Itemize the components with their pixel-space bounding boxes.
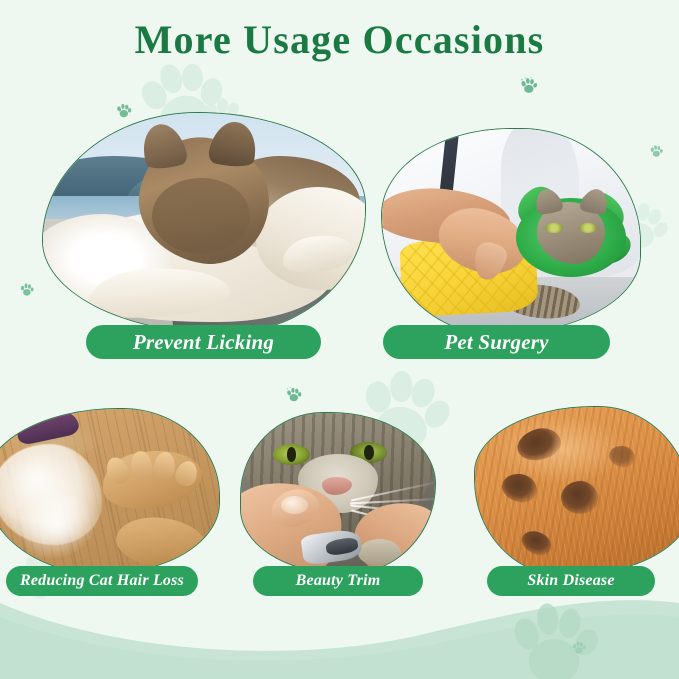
- label-beauty-trim-text: Beauty Trim: [296, 572, 381, 590]
- paw-accent-mid-left-icon: [18, 280, 36, 300]
- photo-reducing-cat-hair-loss: [0, 408, 220, 574]
- label-skin-disease[interactable]: Skin Disease: [487, 566, 655, 596]
- paw-watermark-bottom-right: [488, 596, 618, 679]
- paw-accent-bottom-right-icon: [570, 638, 588, 658]
- paw-accent-top-right-icon: [518, 74, 540, 98]
- label-prevent-licking-text: Prevent Licking: [133, 330, 274, 355]
- infographic-canvas: More Usage Occasions: [0, 0, 679, 679]
- photo-beauty-trim: [240, 412, 436, 574]
- page-title-wrapper: More Usage Occasions: [0, 14, 679, 66]
- photo-prevent-licking: [42, 112, 366, 334]
- occasion-card-skin-disease[interactable]: [474, 406, 679, 576]
- label-reducing-cat-hair-loss[interactable]: Reducing Cat Hair Loss: [6, 566, 198, 596]
- photo-skin-disease: [474, 406, 679, 576]
- label-reducing-cat-hair-loss-text: Reducing Cat Hair Loss: [20, 572, 184, 590]
- label-beauty-trim[interactable]: Beauty Trim: [253, 566, 423, 596]
- page-title: More Usage Occasions: [135, 14, 545, 66]
- photo-pet-surgery: [381, 128, 641, 334]
- occasion-card-prevent-licking[interactable]: [42, 112, 366, 334]
- label-pet-surgery[interactable]: Pet Surgery: [383, 325, 610, 359]
- label-pet-surgery-text: Pet Surgery: [444, 330, 548, 355]
- label-prevent-licking[interactable]: Prevent Licking: [86, 325, 321, 359]
- paw-accent-center-icon: [284, 384, 304, 406]
- occasion-card-reducing-cat-hair-loss[interactable]: [0, 408, 220, 574]
- paw-accent-mid-right-icon: [648, 142, 665, 161]
- occasion-card-pet-surgery[interactable]: [381, 128, 641, 334]
- label-skin-disease-text: Skin Disease: [527, 572, 614, 590]
- occasion-card-beauty-trim[interactable]: [240, 412, 436, 574]
